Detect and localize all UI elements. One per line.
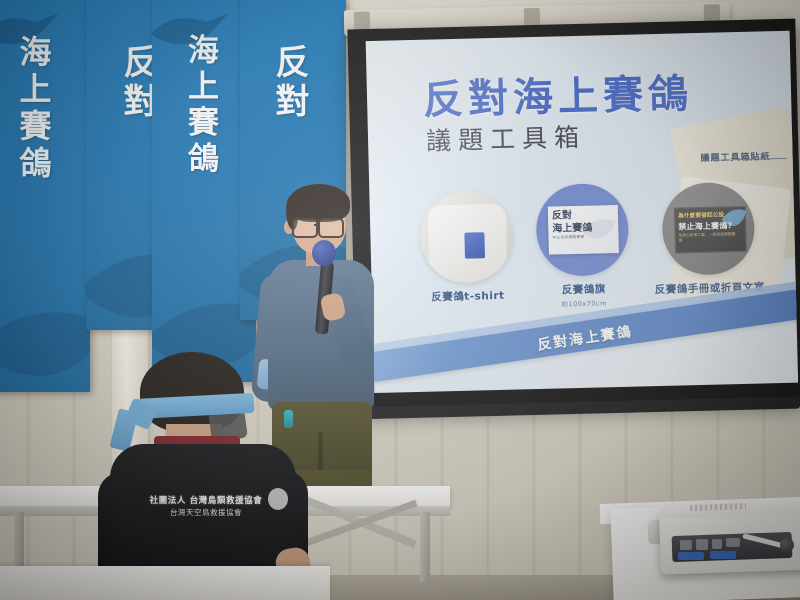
tshirt-caption: 反賽鴿t-shirt [408,287,528,305]
banner-char: 對 [240,83,346,122]
projector-port [696,539,708,550]
photo-scene: 海 上 賽 鴿 反 對 海 上 賽 鴿 [0,0,800,600]
flag-line-2: 海上賽鴿 [552,222,592,234]
seated-person-figure: 社團法人 台灣鳥類救援協會 台灣天空鳥救援協會 [92,352,310,600]
sticker-note-label: 議題工具箱貼紙 [700,149,770,164]
shirt-text-line-2: 台灣天空鳥救援協會 [126,507,286,518]
product-flag: 反對 海上賽鴿 中止海鳥殘酷賽事 反賽鴿旗 約100x70cm [521,182,644,309]
shirt-text-line-1: 社團法人 台灣鳥類救援協會 [126,494,286,506]
projector-port [712,539,722,549]
glasses-icon [318,218,344,238]
flag-line-1: 反對 [552,210,572,221]
banner-char: 上 [0,71,90,108]
brochure-cover-line-3: 海鳥公投第二案．一起終結殘酷賽鴿 [678,232,736,243]
slide-subtitle: 議題工具箱 [426,118,587,158]
foreground-table [0,566,330,600]
flag-text: 反對 海上賽鴿 中止海鳥殘酷賽事 [552,209,615,240]
banner-char: 反 [240,44,346,83]
dove-icon [0,272,90,392]
flag-photo: 反對 海上賽鴿 中止海鳥殘酷賽事 [535,183,629,277]
projector-port [726,538,740,547]
product-tshirt: 反賽鴿t-shirt [405,189,528,306]
brochure-cover-line-2: 禁止海上賽鴿? [678,220,738,232]
projection-screen: 反對海上賽鴿 議題工具箱 議題工具箱貼紙 反賽鴿t-shirt [347,19,800,414]
glasses-icon [292,218,318,238]
slide-surface: 反對海上賽鴿 議題工具箱 議題工具箱貼紙 反賽鴿t-shirt [366,31,798,393]
brochure-cover-line-1: 為什麼要發起公投 [678,210,736,219]
glasses-bridge [314,224,320,226]
microphone-icon [312,240,336,266]
flag-caption: 反賽鴿旗 [524,280,644,298]
slide-title: 反對海上賽鴿 [422,61,693,126]
banner-char: 鴿 [0,145,90,182]
banner-char: 海 [0,34,90,71]
banner-left-outer: 海 上 賽 鴿 [0,0,90,392]
projector-port [680,540,692,550]
table-leg [420,512,430,582]
projector-port-vga [710,551,736,559]
projector-port-vga [678,552,704,560]
tshirt-photo [419,190,513,284]
banner-char: 賽 [0,108,90,145]
brochure-photo: 為什麼要發起公投 禁止海上賽鴿? 海鳥公投第二案．一起終結殘酷賽鴿 [661,182,755,276]
